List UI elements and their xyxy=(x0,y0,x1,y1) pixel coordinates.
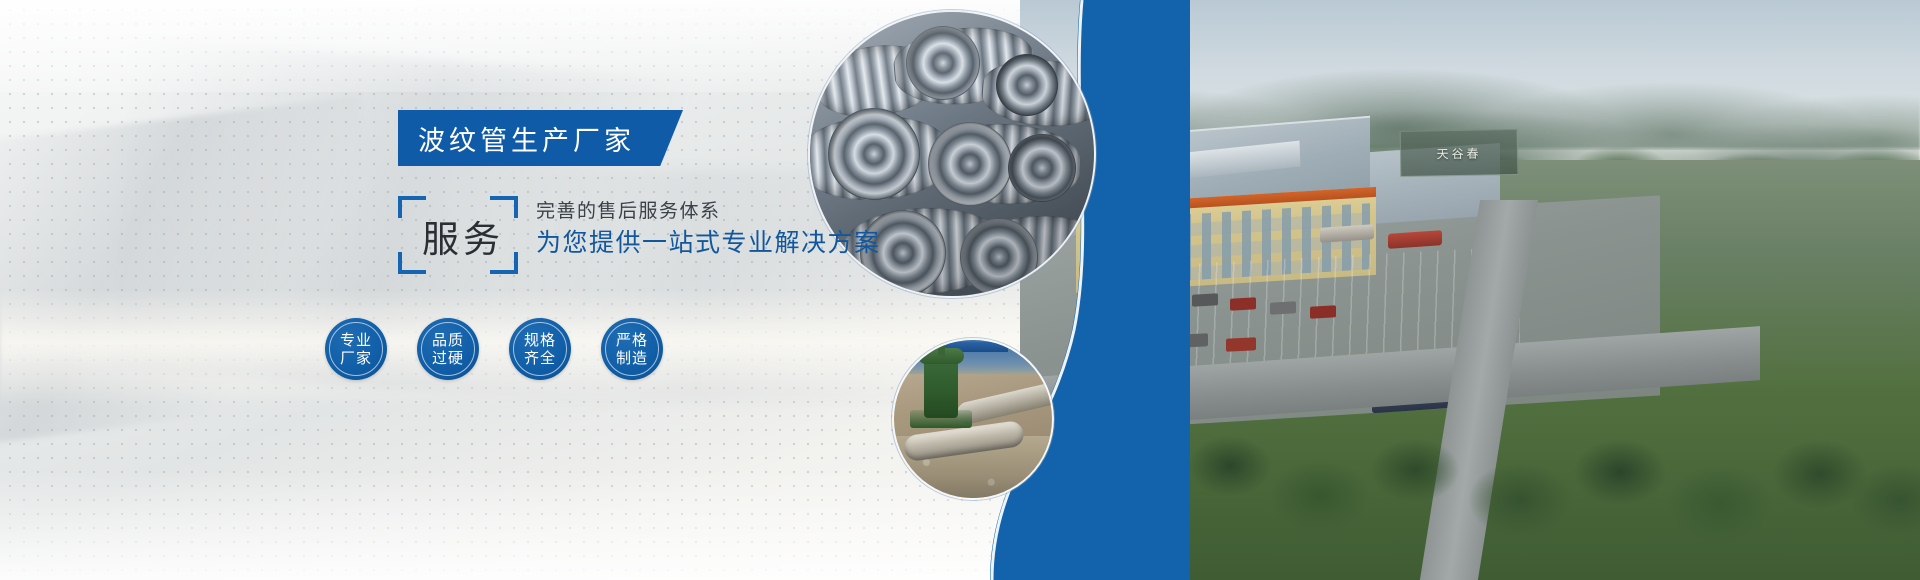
photo-vehicle xyxy=(1310,305,1336,318)
feature-badge[interactable]: 严格 制造 xyxy=(601,318,663,380)
badge-line-1: 规格 xyxy=(524,331,556,349)
feature-badge[interactable]: 品质 过硬 xyxy=(417,318,479,380)
banner-content: 波纹管生产厂家 服务 完善的售后服务体系 为您提供一站式专业解决方案 专业 厂家… xyxy=(0,0,1000,580)
service-keyword: 服务 xyxy=(408,204,518,268)
feature-badge-group: 专业 厂家 品质 过硬 规格 齐全 严格 制造 xyxy=(325,318,745,418)
badge-line-2: 齐全 xyxy=(524,349,556,367)
title-plate-text: 波纹管生产厂家 xyxy=(398,119,635,158)
photo-vehicle xyxy=(1230,297,1256,310)
feature-badge[interactable]: 专业 厂家 xyxy=(325,318,387,380)
photo-vehicle xyxy=(1270,301,1296,314)
service-taglines: 完善的售后服务体系 为您提供一站式专业解决方案 xyxy=(536,198,916,262)
feature-badge[interactable]: 规格 齐全 xyxy=(509,318,571,380)
photo-vehicle xyxy=(1192,293,1218,306)
promo-banner: 天谷春 波纹管生产厂家 xyxy=(0,0,1920,580)
photo-vehicle xyxy=(1226,337,1256,352)
badge-line-1: 严格 xyxy=(616,331,648,349)
badge-line-1: 专业 xyxy=(340,331,372,349)
badge-line-1: 品质 xyxy=(432,331,464,349)
photo-billboard-sign: 天谷春 xyxy=(1400,129,1519,177)
tagline-primary: 为您提供一站式专业解决方案 xyxy=(536,224,916,262)
service-headline-block: 服务 完善的售后服务体系 为您提供一站式专业解决方案 xyxy=(398,196,918,280)
badge-line-2: 厂家 xyxy=(340,349,372,367)
title-plate: 波纹管生产厂家 xyxy=(398,110,683,166)
badge-line-2: 过硬 xyxy=(432,349,464,367)
badge-line-2: 制造 xyxy=(616,349,648,367)
tagline-secondary: 完善的售后服务体系 xyxy=(536,198,916,224)
